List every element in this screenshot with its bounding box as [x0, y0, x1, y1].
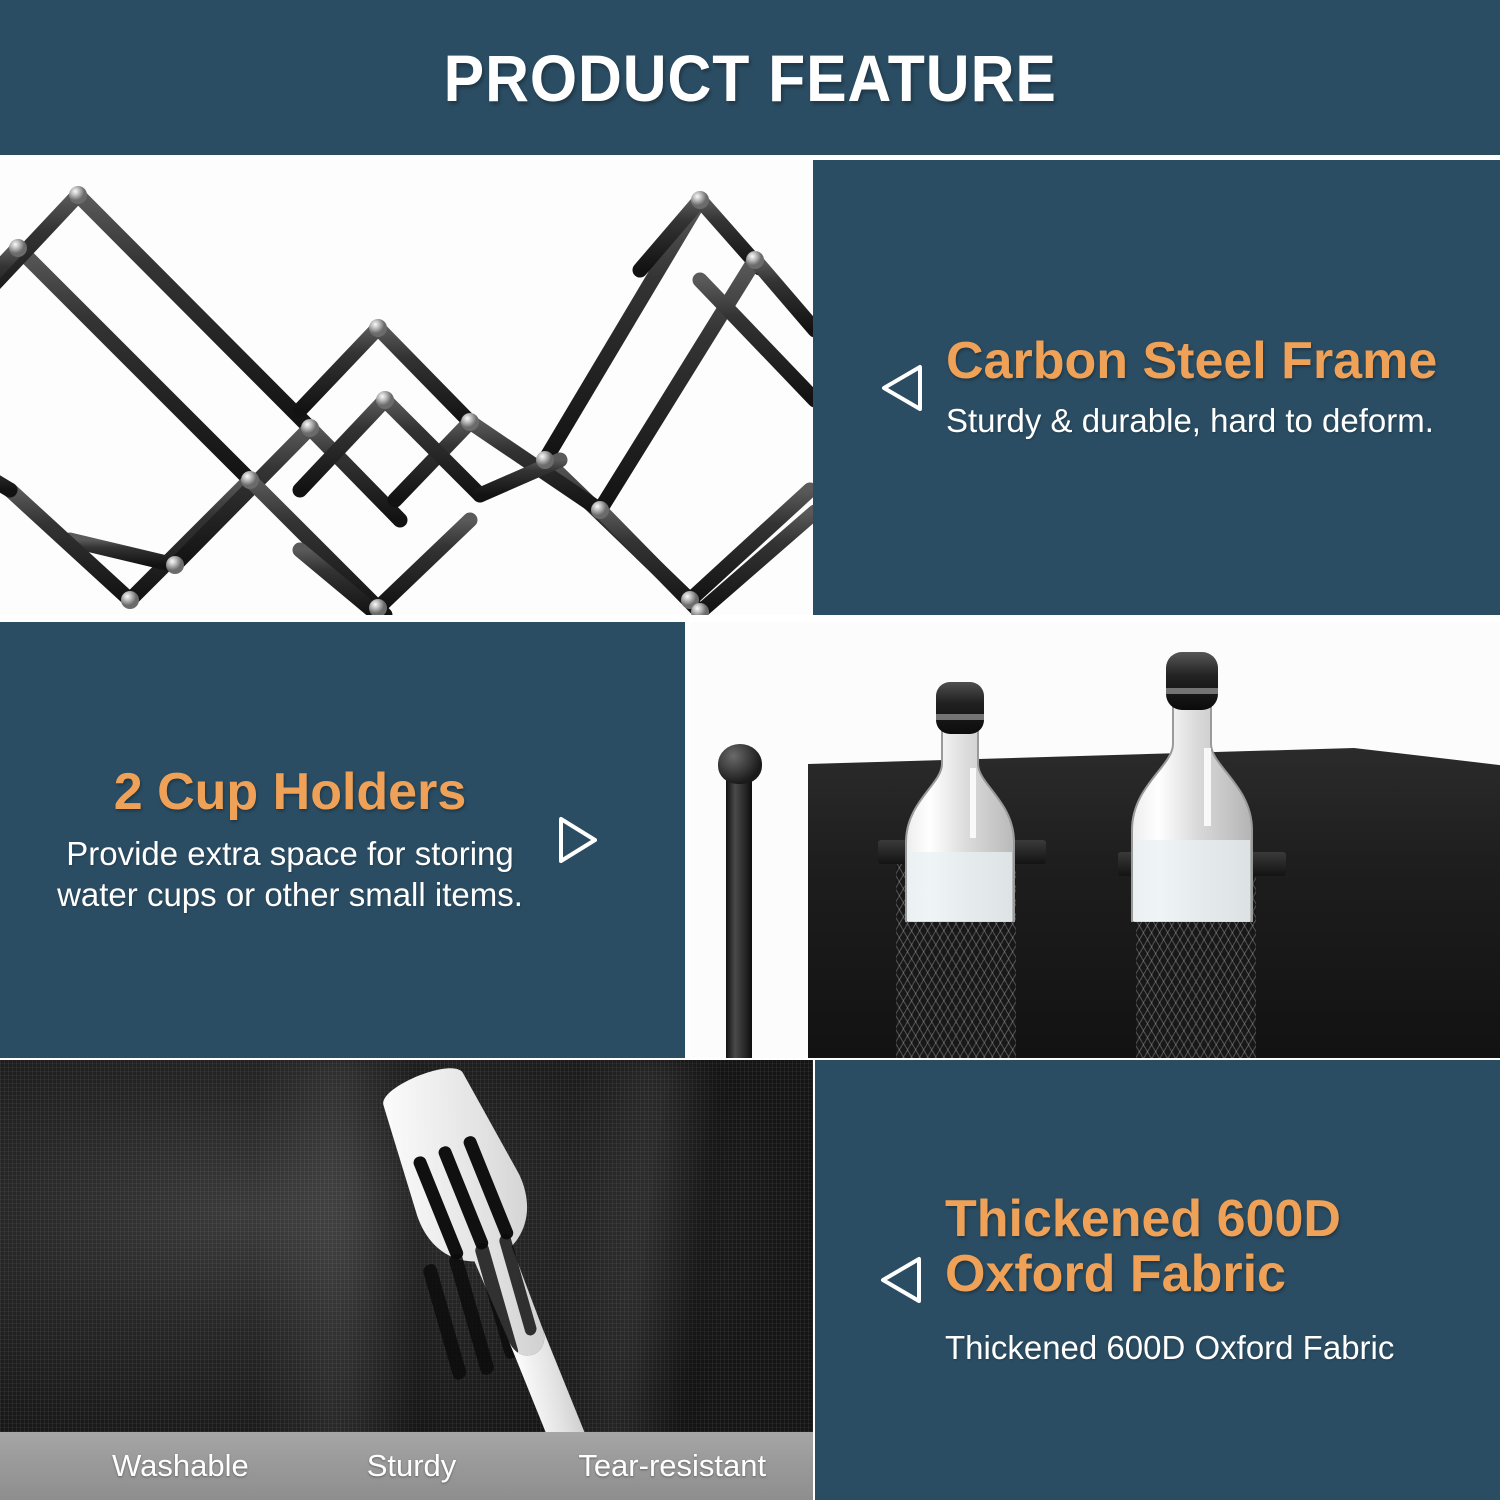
cart-pole-cap	[718, 744, 762, 784]
feature-oxford-fabric: Thickened 600D Oxford Fabric Thickened 6…	[815, 1060, 1500, 1500]
feature-title-line2: Oxford Fabric	[945, 1247, 1394, 1302]
fabric-tag-sturdy: Sturdy	[367, 1448, 457, 1484]
water-bottle-left	[890, 672, 1030, 922]
triangle-right-icon	[555, 813, 601, 867]
header-banner: PRODUCT FEATURE	[0, 0, 1500, 155]
feature-carbon-steel-frame: Carbon Steel Frame Sturdy & durable, har…	[813, 160, 1500, 615]
feature-subtitle-line2: water cups or other small items.	[57, 875, 523, 915]
cup-holders-panel: 2 Cup Holders Provide extra space for st…	[0, 622, 685, 1058]
feature-title: Carbon Steel Frame	[946, 334, 1437, 389]
water-bottle-right	[1118, 644, 1268, 922]
fabric-tag-washable: Washable	[112, 1448, 249, 1484]
water-bottles-in-mesh-pockets-photo	[690, 622, 1500, 1058]
oxford-fabric-panel: Thickened 600D Oxford Fabric Thickened 6…	[815, 1060, 1500, 1500]
steel-lattice-illustration	[0, 160, 813, 615]
feature-subtitle-line1: Provide extra space for storing	[66, 834, 514, 874]
feature-title-line1: Thickened 600D	[945, 1192, 1394, 1247]
fabric-tag-tear-resistant: Tear-resistant	[578, 1448, 766, 1484]
feature-subtitle: Sturdy & durable, hard to deform.	[946, 401, 1437, 441]
cart-pole	[726, 772, 752, 1058]
feature-title: 2 Cup Holders	[114, 765, 467, 820]
fabric-tags-strip: Washable Sturdy Tear-resistant	[0, 1432, 813, 1500]
product-feature-infographic: PRODUCT FEATURE	[0, 0, 1500, 1500]
page-title: PRODUCT FEATURE	[443, 40, 1056, 116]
feature-cup-holders: 2 Cup Holders Provide extra space for st…	[0, 622, 685, 1058]
accordion-steel-frame-photo	[0, 160, 813, 615]
triangle-left-icon	[878, 361, 924, 415]
carbon-steel-frame-panel: Carbon Steel Frame Sturdy & durable, har…	[813, 160, 1500, 615]
feature-subtitle: Thickened 600D Oxford Fabric	[945, 1328, 1394, 1368]
fork-on-oxford-fabric-photo: Washable Sturdy Tear-resistant	[0, 1060, 813, 1500]
triangle-left-icon	[877, 1253, 923, 1307]
